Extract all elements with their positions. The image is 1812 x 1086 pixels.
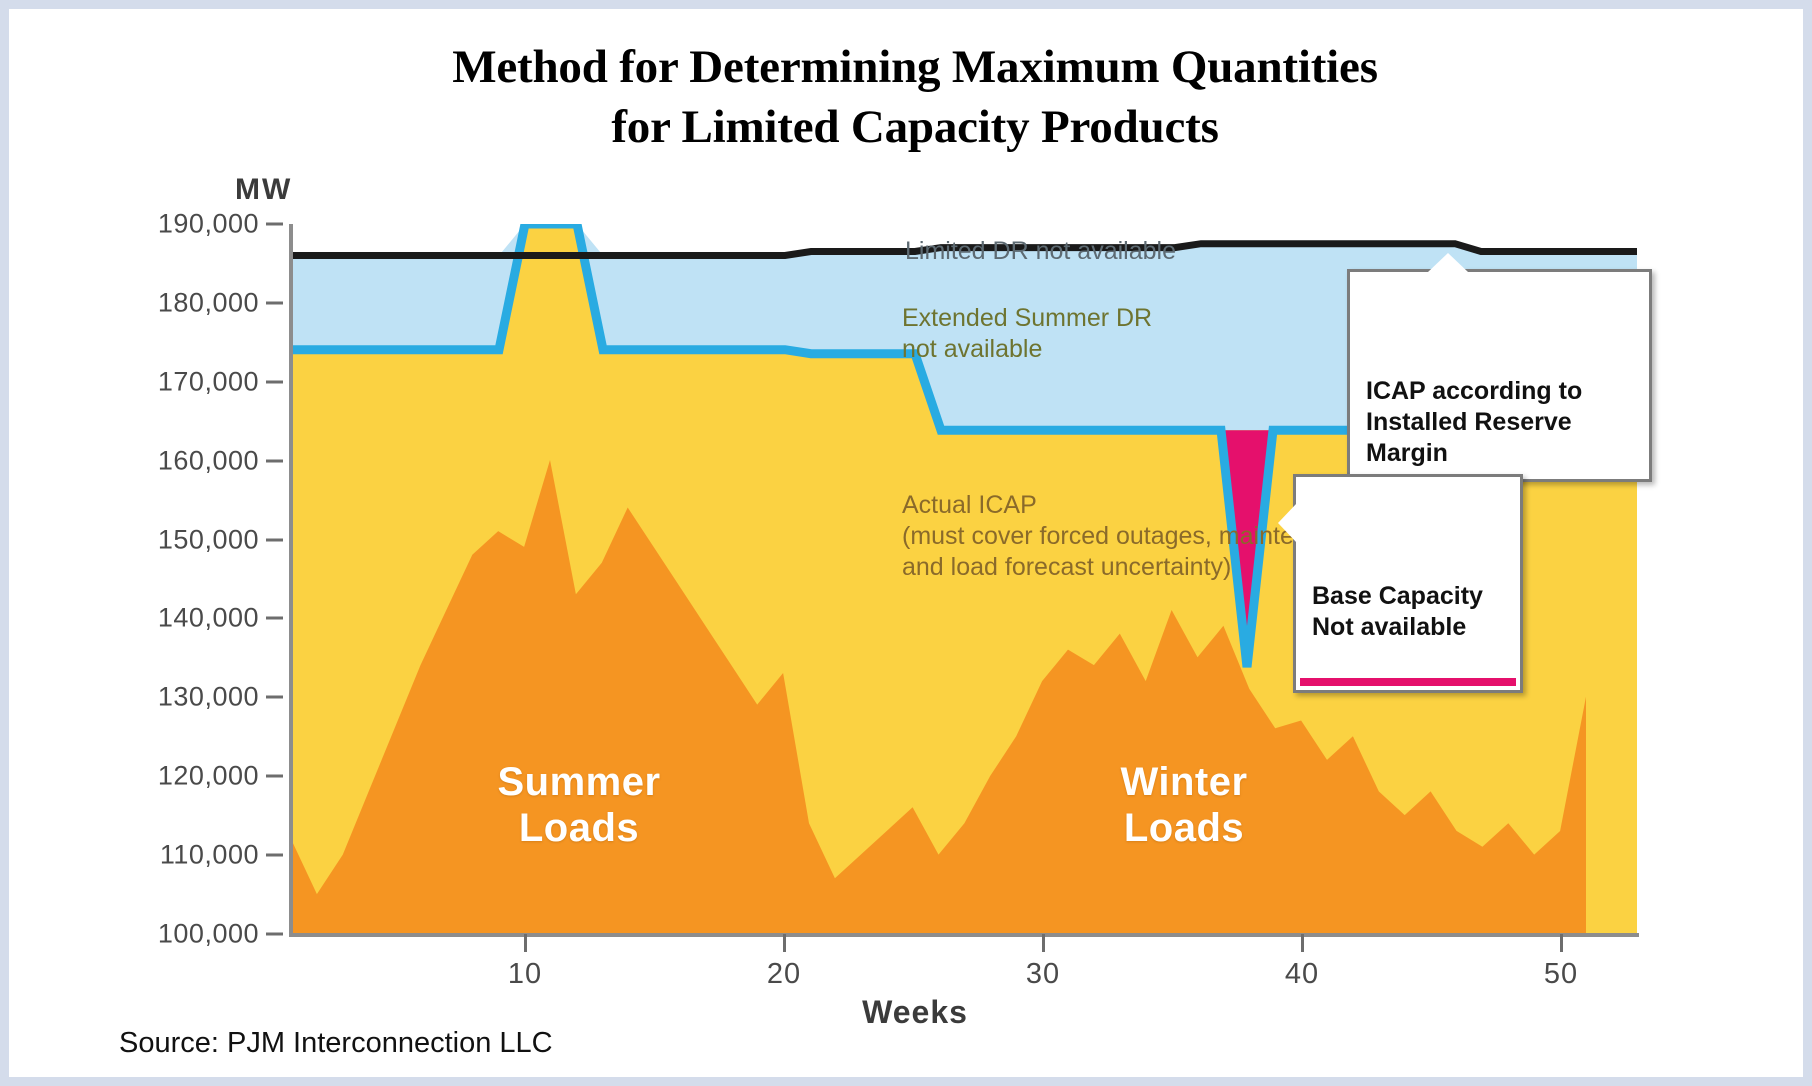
y-tick-mark: [266, 301, 283, 304]
y-tick-label: 190,000: [158, 209, 259, 240]
y-tick-mark: [266, 380, 283, 383]
y-tick-label: 130,000: [158, 682, 259, 713]
y-tick-label: 110,000: [160, 840, 259, 871]
page-title: Method for Determining Maximum Quantitie…: [9, 37, 1812, 157]
callout-icap-irm: ICAP according to Installed Reserve Marg…: [1347, 269, 1652, 482]
y-tick-mark: [266, 775, 283, 778]
callout-base-text: Base Capacity Not available: [1312, 582, 1483, 641]
y-tick-mark: [266, 696, 283, 699]
extended-summer-dr-label: Extended Summer DR not available: [902, 303, 1152, 365]
source-note: Source: PJM Interconnection LLC: [119, 1027, 553, 1060]
y-tick-mark: [266, 223, 283, 226]
x-axis-title: Weeks: [9, 994, 1812, 1031]
y-axis: 190,000 180,000 170,000 160,000 150,000 …: [149, 224, 289, 934]
y-tick-mark: [266, 617, 283, 620]
x-tick-label: 40: [1285, 958, 1319, 991]
x-tick-mark: [1301, 934, 1304, 952]
base-capacity-color-swatch: [1300, 678, 1516, 686]
x-tick-mark: [524, 934, 527, 952]
y-tick-mark: [266, 854, 283, 857]
callout-icap-text: ICAP according to Installed Reserve Marg…: [1366, 377, 1582, 467]
y-axis-line: [289, 224, 293, 937]
x-tick-label: 20: [767, 958, 801, 991]
x-tick-label: 30: [1026, 958, 1060, 991]
summer-loads-label: Summer Loads: [449, 759, 709, 851]
x-tick-mark: [1560, 934, 1563, 952]
x-tick-mark: [1042, 934, 1045, 952]
y-tick-label: 150,000: [158, 524, 259, 555]
x-tick-label: 50: [1544, 958, 1578, 991]
y-axis-unit-label: MW: [235, 173, 292, 207]
y-tick-label: 170,000: [158, 366, 259, 397]
chart-page: Method for Determining Maximum Quantitie…: [0, 0, 1812, 1086]
winter-loads-label: Winter Loads: [1059, 759, 1309, 851]
y-tick-label: 180,000: [158, 287, 259, 318]
title-line-2: for Limited Capacity Products: [9, 97, 1812, 157]
y-tick-label: 120,000: [158, 761, 259, 792]
y-tick-label: 100,000: [158, 919, 259, 950]
x-tick-label: 10: [508, 958, 542, 991]
limited-dr-label: Limited DR not available: [905, 236, 1176, 267]
y-tick-mark: [266, 933, 283, 936]
y-tick-mark: [266, 538, 283, 541]
x-tick-mark: [783, 934, 786, 952]
y-tick-mark: [266, 459, 283, 462]
title-line-1: Method for Determining Maximum Quantitie…: [9, 37, 1812, 97]
y-tick-label: 160,000: [158, 445, 259, 476]
y-tick-label: 140,000: [158, 603, 259, 634]
callout-base-capacity: Base Capacity Not available: [1293, 474, 1523, 693]
